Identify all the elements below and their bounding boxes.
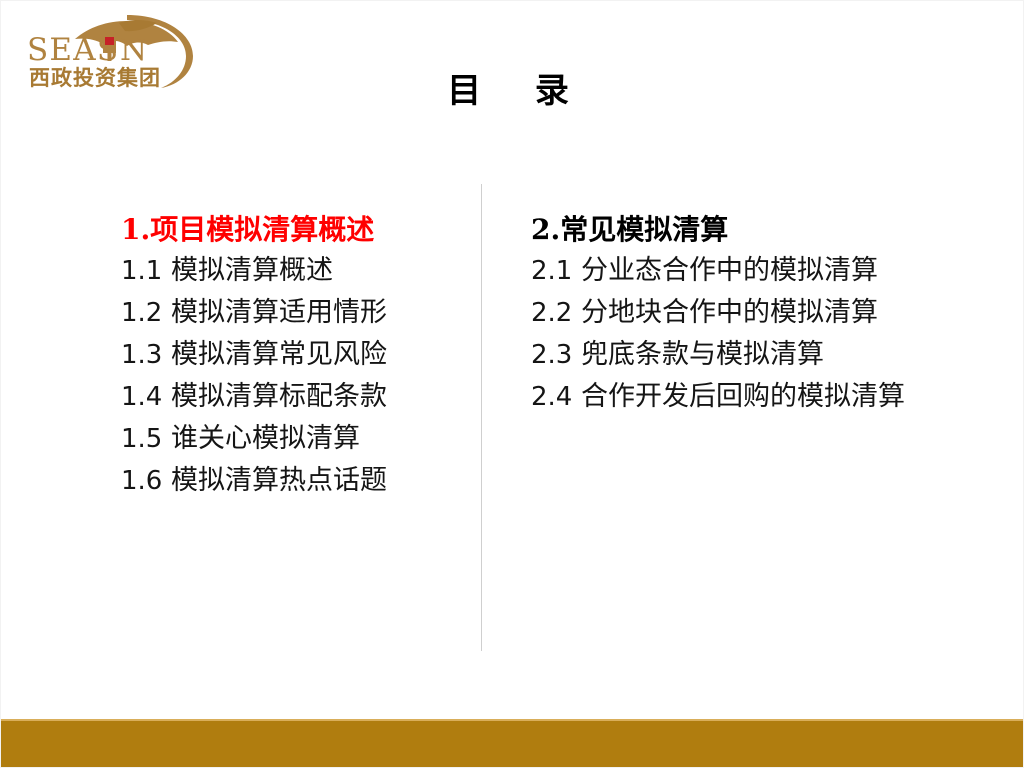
logo-accent-square (105, 37, 114, 45)
toc-item-number: 2.3 (531, 340, 572, 370)
toc-section-heading-2[interactable]: 2.常见模拟清算 (531, 209, 1011, 250)
toc-item-number: 1.1 (121, 256, 162, 286)
toc-item-1-2[interactable]: 1.2 模拟清算适用情形 (121, 292, 466, 334)
toc-item-number: 1.6 (121, 466, 162, 496)
column-divider (481, 184, 482, 651)
toc-item-1-3[interactable]: 1.3 模拟清算常见风险 (121, 334, 466, 376)
toc-item-1-1[interactable]: 1.1 模拟清算概述 (121, 250, 466, 292)
toc-item-number: 1.3 (121, 340, 162, 370)
toc-item-label: 模拟清算热点话题 (171, 465, 387, 496)
bottom-accent-band (1, 721, 1024, 767)
toc-column-right: 2.常见模拟清算 2.1 分业态合作中的模拟清算 2.2 分地块合作中的模拟清算… (531, 209, 1011, 418)
toc-item-label: 分业态合作中的模拟清算 (581, 255, 878, 286)
toc-item-number: 1.2 (121, 298, 162, 328)
toc-item-number: 1.4 (121, 382, 162, 412)
toc-item-1-4[interactable]: 1.4 模拟清算标配条款 (121, 376, 466, 418)
toc-item-label: 谁关心模拟清算 (171, 423, 360, 454)
toc-item-1-6[interactable]: 1.6 模拟清算热点话题 (121, 460, 466, 502)
toc-section-heading-1[interactable]: 1.项目模拟清算概述 (121, 209, 466, 250)
toc-item-label: 合作开发后回购的模拟清算 (581, 381, 905, 412)
toc-item-label: 分地块合作中的模拟清算 (581, 297, 878, 328)
toc-item-2-1[interactable]: 2.1 分业态合作中的模拟清算 (531, 250, 1011, 292)
toc-item-number: 2.1 (531, 256, 572, 286)
toc-item-2-3[interactable]: 2.3 兜底条款与模拟清算 (531, 334, 1011, 376)
svg-text:N: N (120, 32, 148, 68)
toc-item-1-5[interactable]: 1.5 谁关心模拟清算 (121, 418, 466, 460)
toc-item-number: 2.2 (531, 298, 572, 328)
page-title: 目 录 (1, 73, 1024, 110)
toc-item-label: 模拟清算标配条款 (171, 381, 387, 412)
toc-item-number: 1.5 (121, 424, 162, 454)
toc-item-label: 模拟清算适用情形 (171, 297, 387, 328)
toc-item-label: 兜底条款与模拟清算 (581, 339, 824, 370)
toc-item-label: 模拟清算概述 (171, 255, 333, 286)
toc-item-2-2[interactable]: 2.2 分地块合作中的模拟清算 (531, 292, 1011, 334)
slide-canvas: SEAS N 西政投资集团 目 录 1.项目模拟清算概述 1.1 模拟清算概述 … (0, 0, 1024, 768)
toc-column-left: 1.项目模拟清算概述 1.1 模拟清算概述 1.2 模拟清算适用情形 1.3 模… (121, 209, 466, 502)
toc-item-number: 2.4 (531, 382, 572, 412)
toc-item-2-4[interactable]: 2.4 合作开发后回购的模拟清算 (531, 376, 1011, 418)
toc-item-label: 模拟清算常见风险 (171, 339, 387, 370)
